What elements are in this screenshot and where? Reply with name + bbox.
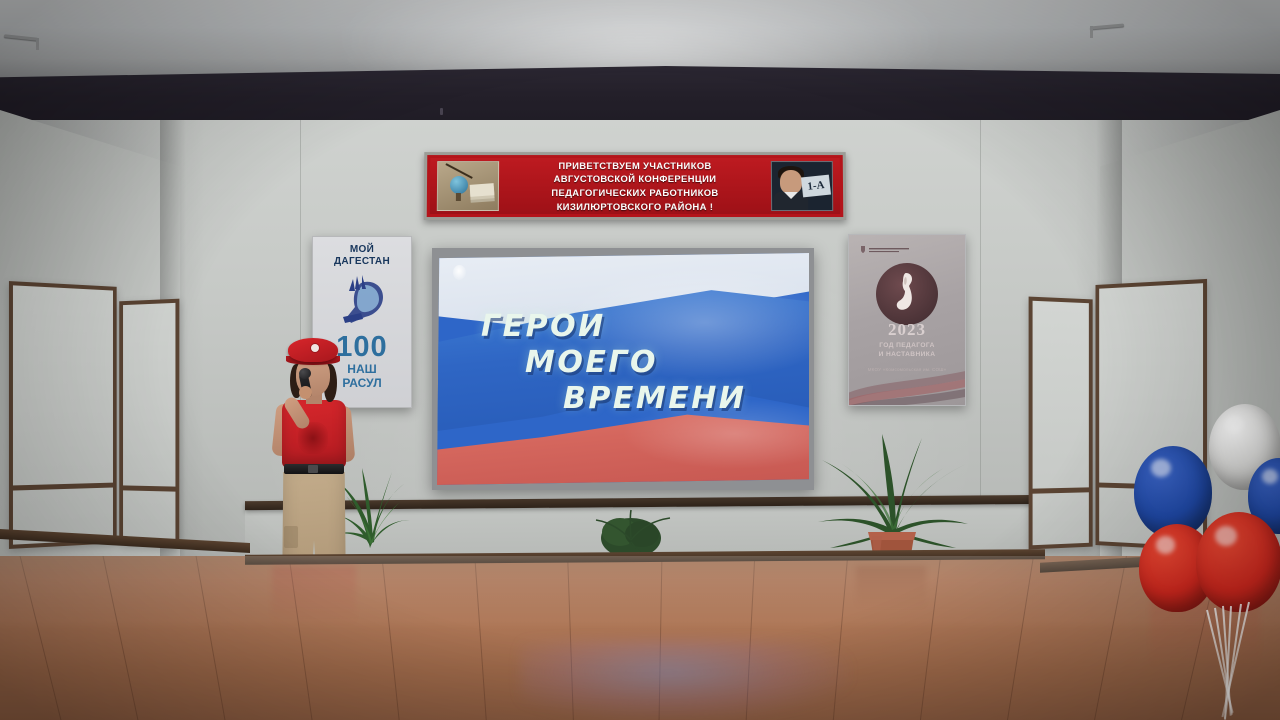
poster-left-title: МОЙ ДАГЕСТАН: [313, 244, 411, 267]
yunarmiya-badge-icon: [311, 344, 319, 352]
wall-seam: [980, 120, 981, 560]
panel-divider: [13, 483, 113, 491]
projector-light-spill: [520, 640, 850, 720]
screen-title-line1: ГЕРОИ: [481, 309, 809, 345]
performer-hand: [299, 386, 312, 399]
class-sign: 1-А: [801, 175, 831, 198]
schoolchild-photo: 1-А: [771, 161, 833, 211]
globe-icon: [450, 176, 468, 194]
screen-title-line2: МОЕГО: [525, 345, 809, 381]
reflection-plant-right: [856, 566, 926, 610]
child-head: [780, 170, 802, 194]
pelican-svg: [893, 271, 919, 315]
performer-pocket: [284, 526, 298, 548]
red-balloon-right: [1196, 512, 1280, 612]
banner-line-2: АВГУСТОВСКОЙ КОНФЕРЕНЦИИ: [554, 172, 717, 186]
ministry-logo-svg: [857, 245, 913, 254]
welcome-banner: 1-А ПРИВЕТСТВУЕМ УЧАСТНИКОВ АВГУСТОВСКОЙ…: [424, 152, 847, 220]
tricolor-ribbon-graphic: [848, 361, 966, 406]
silhouette-svg: [331, 273, 395, 329]
globe-stand-icon: [456, 193, 461, 201]
ministry-logo: [857, 241, 913, 250]
banner-text-block: ПРИВЕТСТВУЕМ УЧАСТНИКОВ АВГУСТОВСКОЙ КОН…: [505, 159, 765, 213]
rasul-gamzatov-silhouette: [331, 273, 395, 329]
banner-line-3: ПЕДАГОГИЧЕСКИХ РАБОТНИКОВ: [551, 186, 718, 200]
ceiling-hook-drop-right: [1090, 26, 1093, 38]
ceiling-hook-drop-left: [36, 38, 39, 50]
class-sign-text: 1-А: [807, 180, 825, 193]
panel-divider: [1033, 487, 1089, 493]
pelican-emblem: [893, 271, 919, 315]
poster-year-of-teacher: 2023 ГОД ПЕДАГОГА И НАСТАВНИКА МКОУ «Ком…: [848, 234, 966, 406]
poster-left-title-line2: ДАГЕСТАН: [313, 256, 411, 268]
globe-and-books-icon: [437, 161, 499, 211]
screen-glare-spot: [453, 265, 466, 280]
panel-divider: [123, 485, 175, 491]
ceiling: [0, 0, 1280, 78]
photo-scene: 1-А ПРИВЕТСТВУЕМ УЧАСТНИКОВ АВГУСТОВСКОЙ…: [0, 0, 1280, 720]
poster-right-line1: ГОД ПЕДАГОГА: [849, 341, 965, 350]
banner-line-1: ПРИВЕТСТВУЕМ УЧАСТНИКОВ: [558, 159, 711, 173]
projection-screen: ГЕРОИ МОЕГО ВРЕМЕНИ: [437, 253, 809, 485]
books-icon: [470, 183, 495, 197]
poster-right-year: 2023: [849, 321, 965, 339]
reflection-performer: [272, 566, 356, 626]
ribbon-svg: [848, 361, 966, 406]
partition-panel-right-inner: [1029, 297, 1093, 550]
poster-right-line2: И НАСТАВНИКА: [849, 350, 965, 359]
poster-left-title-line1: МОЙ: [313, 244, 411, 256]
performer-belt-buckle: [308, 465, 318, 473]
screen-title-line3: ВРЕМЕНИ: [563, 381, 809, 417]
banner-line-4: КИЗИЛЮРТОВСКОГО РАЙОНА !: [557, 200, 714, 214]
valance-speck: [440, 108, 443, 115]
partition-panel-left-outer: [9, 281, 117, 549]
partition-panel-left-inner: [119, 299, 179, 548]
